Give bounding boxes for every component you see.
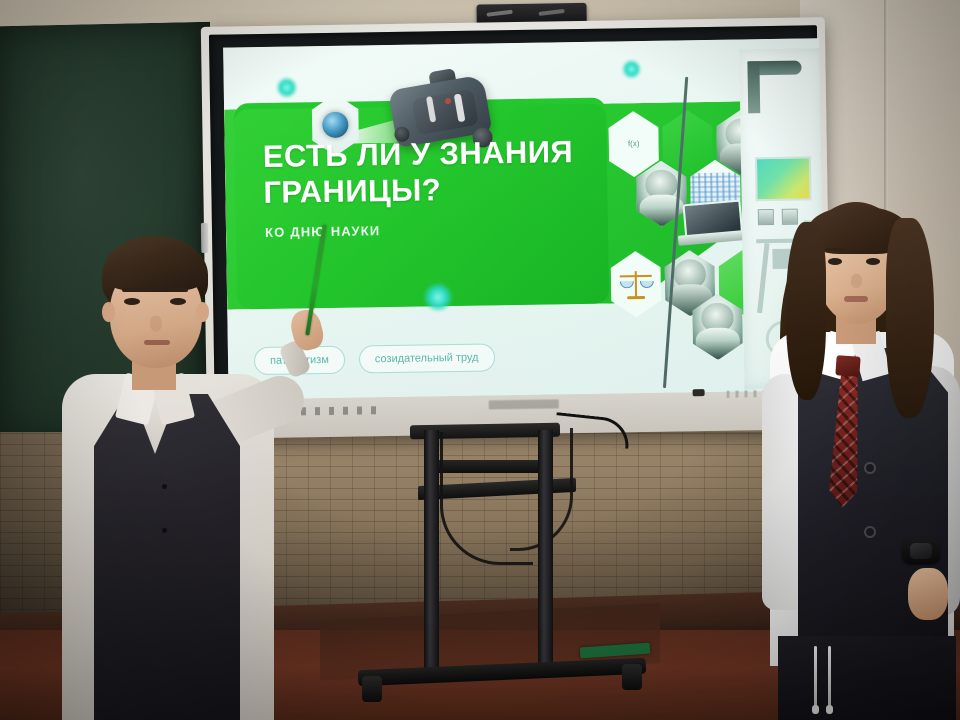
boy-vest-button bbox=[162, 484, 167, 489]
drawstring bbox=[828, 646, 831, 708]
display-cart bbox=[360, 424, 640, 720]
girl-tie-knot bbox=[835, 355, 860, 377]
classroom-photo: ЕСТЬ ЛИ У ЗНАНИЯ ГРАНИЦЫ? КО ДНЮ НАУКИ п… bbox=[0, 0, 960, 720]
girl-mouth bbox=[844, 296, 868, 302]
glow-dot bbox=[423, 282, 453, 312]
scales-icon bbox=[618, 267, 655, 302]
girl-eye bbox=[828, 258, 842, 265]
cart-caster bbox=[362, 676, 382, 702]
boy-ear bbox=[102, 302, 115, 322]
cart-caster bbox=[622, 664, 642, 690]
slide-title-line2: ГРАНИЦЫ? bbox=[263, 170, 594, 211]
boy-hair-fringe bbox=[103, 254, 207, 292]
cart-base-bar bbox=[358, 658, 646, 687]
boy-nose bbox=[150, 316, 162, 332]
girl-hair-strand bbox=[786, 222, 826, 400]
formula-text: f(x) bbox=[628, 138, 640, 150]
robot-indicator-light bbox=[445, 98, 451, 104]
girl-eyebrow bbox=[864, 248, 882, 251]
boy-ear bbox=[196, 302, 209, 322]
equipment-column bbox=[747, 61, 760, 113]
girl-hair-strand bbox=[886, 218, 934, 418]
tag-sozidatelnyy-trud[interactable]: созидательный труд bbox=[359, 343, 495, 373]
girl-vest-button bbox=[864, 526, 876, 538]
boy-eye bbox=[170, 298, 186, 305]
scales-hexagon bbox=[606, 251, 665, 318]
girl-skirt bbox=[778, 636, 956, 720]
girl-hand bbox=[908, 568, 948, 620]
girl-nose bbox=[851, 274, 862, 288]
boy-vest bbox=[94, 394, 240, 720]
boy-eye bbox=[124, 298, 140, 305]
cart-post bbox=[538, 430, 553, 668]
cart-post bbox=[424, 430, 439, 668]
slide-title: ЕСТЬ ЛИ У ЗНАНИЯ ГРАНИЦЫ? bbox=[263, 134, 594, 212]
smartwatch bbox=[902, 538, 940, 564]
equipment-monitor bbox=[755, 156, 812, 201]
slide-title-line1: ЕСТЬ ЛИ У ЗНАНИЯ bbox=[263, 134, 594, 175]
smartwatch-face bbox=[910, 543, 932, 559]
drawstring bbox=[814, 646, 817, 708]
display-brand-logo bbox=[489, 399, 559, 409]
girl-vest-button bbox=[864, 462, 876, 474]
girl-eye bbox=[866, 258, 880, 265]
student-girl bbox=[756, 196, 960, 720]
girl-eyebrow bbox=[826, 248, 844, 251]
boy-mouth bbox=[144, 340, 170, 345]
laptop-photo bbox=[678, 201, 745, 250]
student-boy bbox=[46, 236, 296, 720]
boy-vest-button bbox=[162, 528, 167, 533]
boy-eyebrow bbox=[168, 288, 188, 292]
ir-receiver bbox=[693, 389, 705, 396]
glow-dot bbox=[276, 76, 298, 98]
boy-eyebrow bbox=[122, 288, 142, 292]
